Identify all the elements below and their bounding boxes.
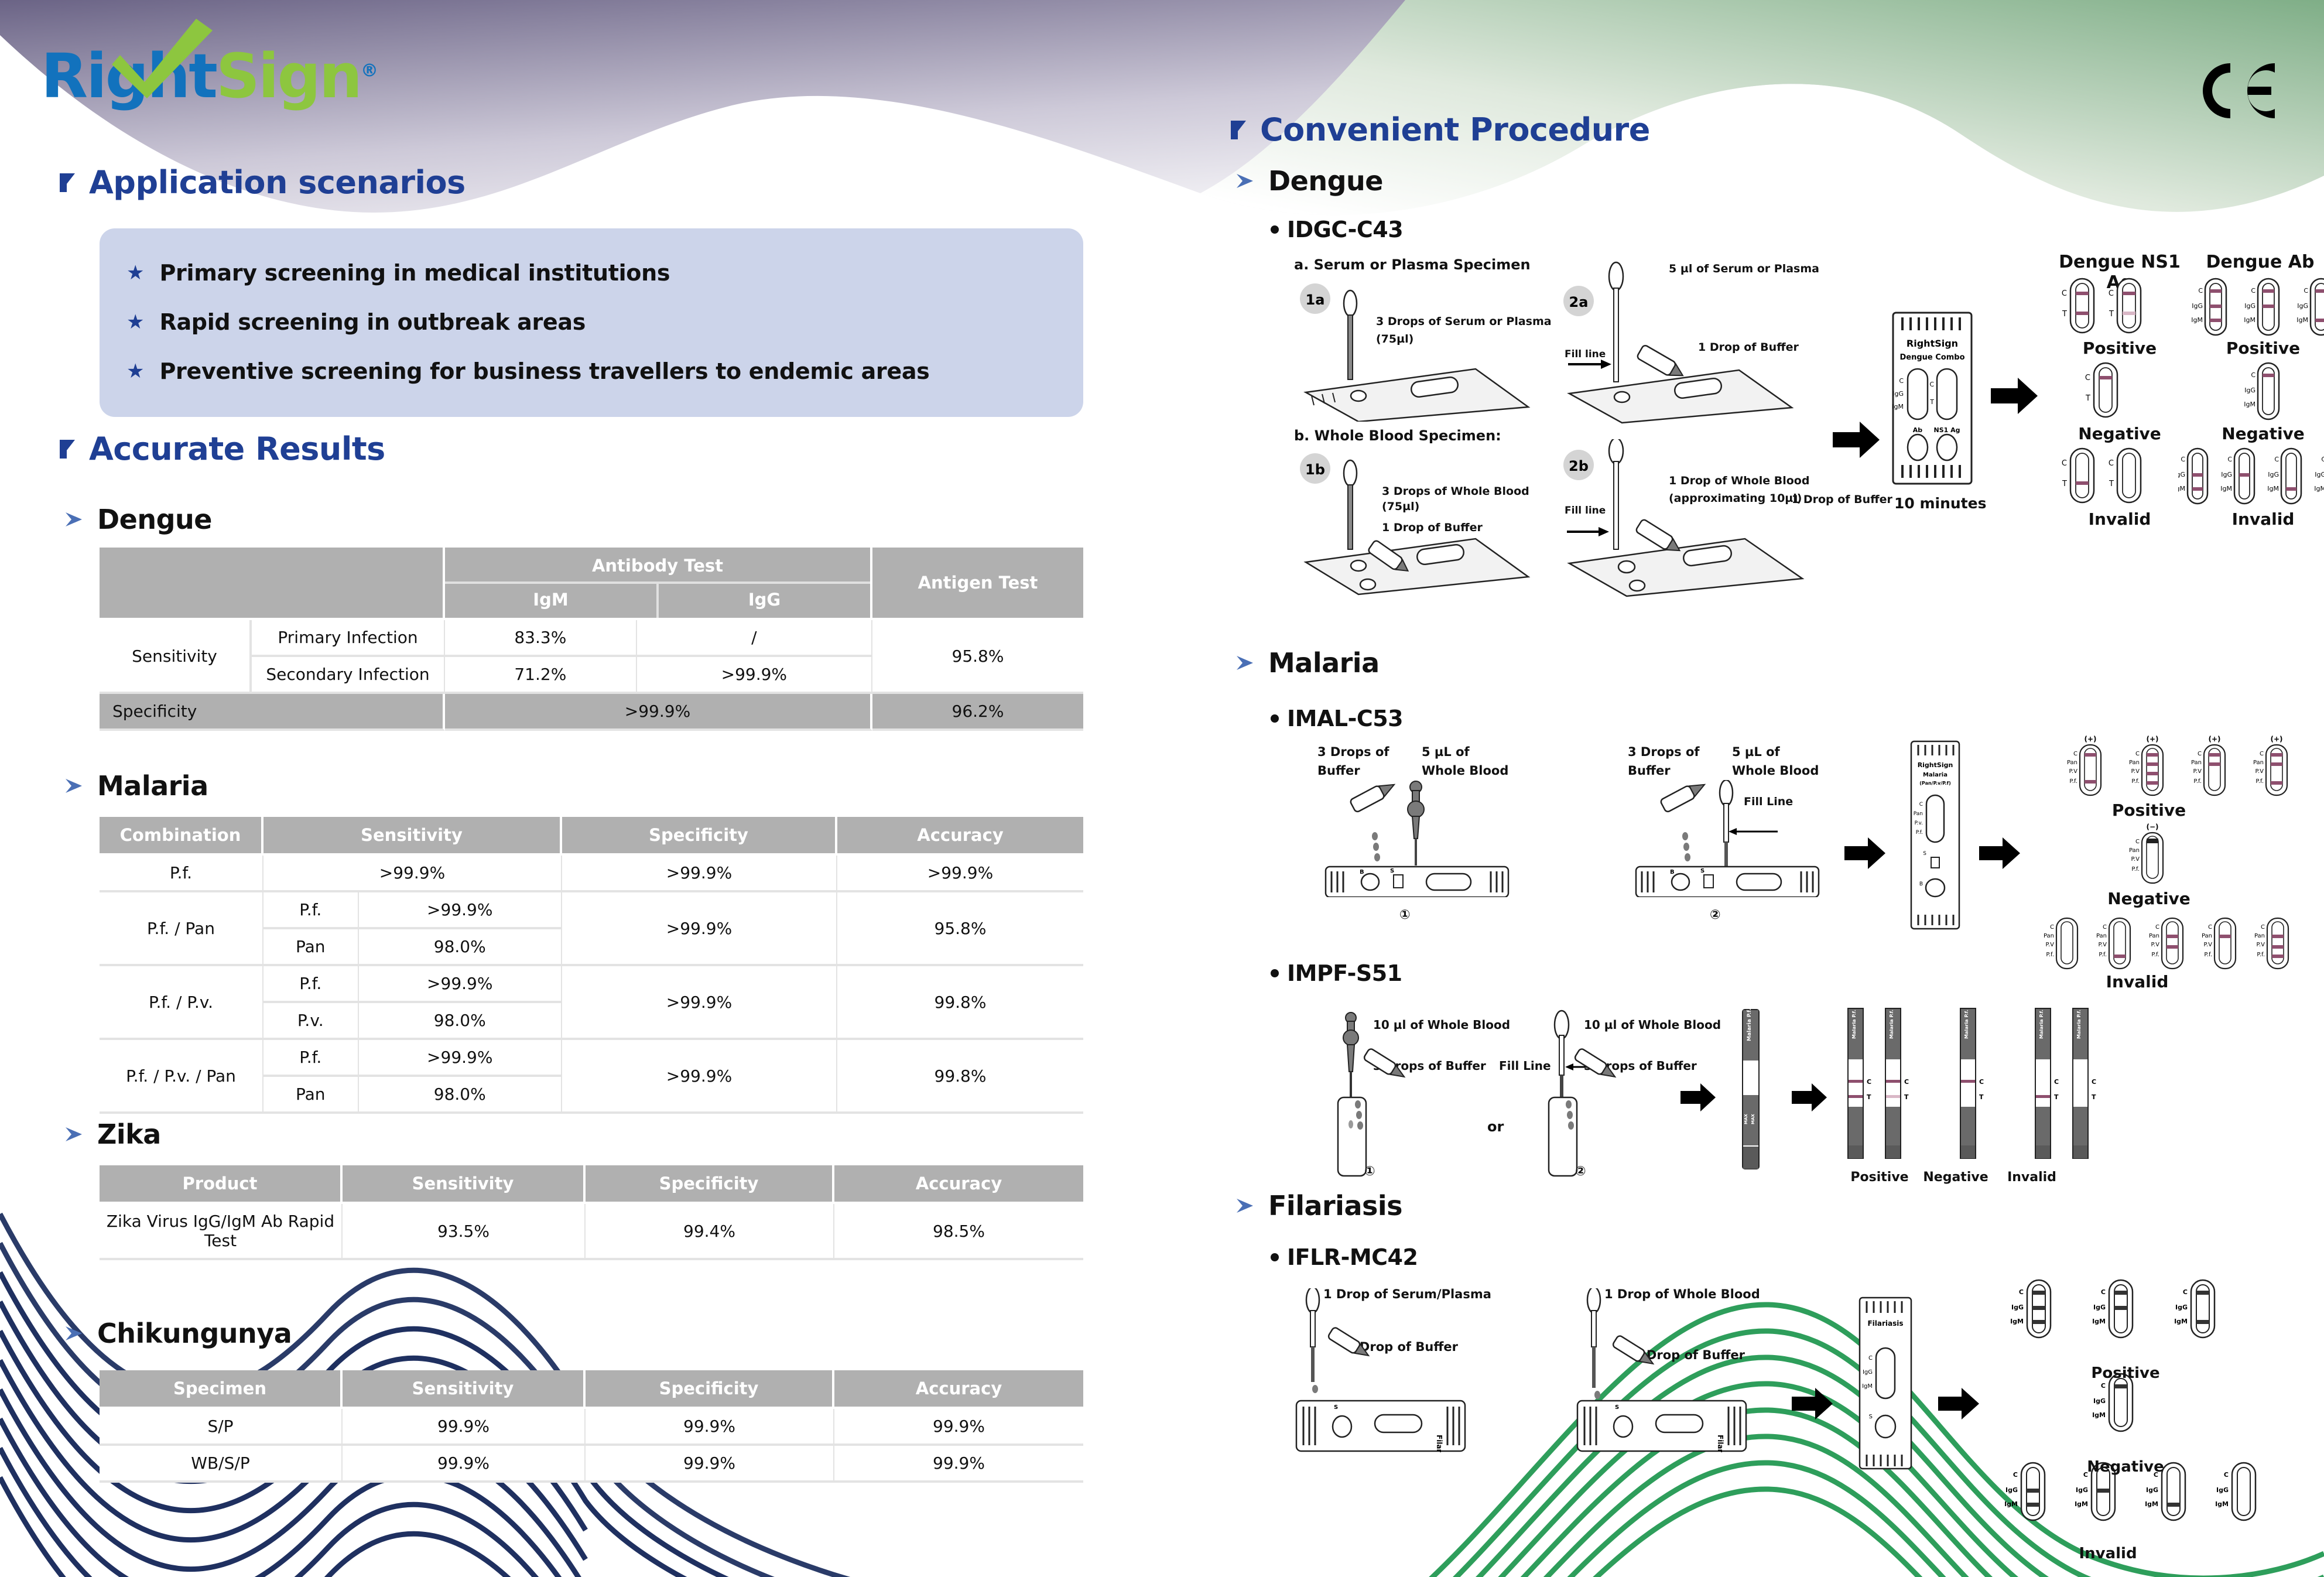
svg-text:Pan: Pan xyxy=(2067,760,2077,766)
svg-text:C: C xyxy=(2183,1288,2188,1296)
subsection-title: Dengue xyxy=(1268,165,1383,197)
secondary-infection-label: Secondary Infection xyxy=(252,657,445,694)
svg-text:IgM: IgM xyxy=(2092,1411,2106,1419)
whole-blood-specimen-label: b. Whole Blood Specimen: xyxy=(1294,427,1501,444)
primary-igm-value: 83.3% xyxy=(445,620,637,657)
specificity-column-header: Specificity xyxy=(586,1370,834,1409)
sub-analyte-value: >99.9% xyxy=(359,892,561,927)
svg-text:Filariasis: Filariasis xyxy=(1867,1319,1903,1328)
svg-text:T: T xyxy=(2109,480,2114,488)
section-heading-accurate-results: Accurate Results xyxy=(59,430,385,467)
serum-specimen-label: a. Serum or Plasma Specimen xyxy=(1294,256,1531,273)
svg-text:IgG: IgG xyxy=(2093,1397,2106,1405)
sensitivity-group-label: Sensitivity xyxy=(100,620,252,694)
dengue-corner-cell xyxy=(100,548,445,620)
accuracy-value: 98.5% xyxy=(834,1204,1083,1260)
sensitivity-value: 93.5% xyxy=(343,1204,586,1260)
svg-text:IgM: IgM xyxy=(2296,316,2308,324)
svg-text:P.V: P.V xyxy=(2151,942,2160,948)
svg-text:(−): (−) xyxy=(2146,823,2158,831)
scenario-label: Rapid screening in outbreak areas xyxy=(159,309,586,335)
flag-bullet-icon xyxy=(1230,119,1247,141)
svg-text:IgG: IgG xyxy=(1863,1369,1873,1376)
svg-text:C: C xyxy=(2109,459,2114,468)
svg-text:(+): (+) xyxy=(2084,735,2096,743)
svg-text:B: B xyxy=(1919,881,1923,887)
svg-text:C: C xyxy=(2135,839,2140,845)
svg-text:Malaria P.f. RightSign: Malaria P.f. RightSign xyxy=(1889,1006,1894,1039)
dengue-ab-negative-label: Negative xyxy=(2196,424,2324,443)
svg-text:P.f.: P.f. xyxy=(1916,830,1923,836)
step-1b-text-line1: 3 Drops of Whole Blood xyxy=(1382,485,1529,498)
chevron-right-icon xyxy=(64,1126,84,1143)
ns1ag-negative-label: Negative xyxy=(2044,424,2196,443)
filariasis-step2-illustration: S Filariasis xyxy=(1569,1288,1768,1452)
impf-strip-in-tube: Malaria P.f. RightSign MAX MAX xyxy=(1727,1007,1774,1177)
sub-analyte-name: Pan xyxy=(263,929,359,964)
svg-text:Pan: Pan xyxy=(1914,811,1923,817)
svg-text:T: T xyxy=(2054,1093,2059,1101)
left-column: Application scenarios ★ Primary screenin… xyxy=(0,0,1171,1577)
sensitivity-column-header: Sensitivity xyxy=(343,1370,586,1409)
svg-text:IgM: IgM xyxy=(1862,1383,1873,1390)
product-code-label: IDGC-C43 xyxy=(1287,217,1403,242)
svg-text:C: C xyxy=(1867,1078,1871,1086)
svg-text:T: T xyxy=(1929,398,1934,406)
table-header-row: Combination Sensitivity Specificity Accu… xyxy=(100,817,1083,856)
impf-step1-illustration xyxy=(1320,1010,1449,1179)
svg-text:IgG: IgG xyxy=(2221,471,2232,478)
svg-text:1a: 1a xyxy=(1306,292,1325,308)
imal-step1-blood-label2: Whole Blood xyxy=(1422,764,1508,778)
svg-text:T: T xyxy=(2092,1093,2096,1101)
section-title: Application scenarios xyxy=(89,164,466,201)
svg-text:P.V: P.V xyxy=(2131,768,2140,775)
star-bullet-icon: ★ xyxy=(126,312,144,332)
svg-text:S: S xyxy=(1615,1404,1619,1411)
impf-invalid-label: Invalid xyxy=(1991,1170,2073,1185)
chevron-right-icon xyxy=(64,1325,84,1342)
svg-text:IgM: IgM xyxy=(2267,485,2279,492)
filariasis-invalid-label: Invalid xyxy=(2049,1545,2166,1562)
svg-text:C: C xyxy=(2274,456,2279,463)
svg-text:P.V: P.V xyxy=(2099,942,2107,948)
svg-text:P.V: P.V xyxy=(2255,768,2264,775)
malaria-invalid-label: Invalid xyxy=(2073,972,2202,991)
imal-step1-buffer-label: 3 Drops of xyxy=(1317,745,1389,759)
svg-text:C: C xyxy=(2260,751,2264,757)
section-heading-application-scenarios: Application scenarios xyxy=(59,164,466,201)
sensitivity-value: 99.9% xyxy=(343,1446,586,1483)
accuracy-column-header: Accuracy xyxy=(834,1370,1083,1409)
svg-text:T: T xyxy=(1979,1093,1984,1101)
chevron-right-icon xyxy=(64,511,84,528)
svg-text:IgG: IgG xyxy=(2178,471,2185,478)
impf-step2-number: ② xyxy=(1575,1164,1586,1179)
step-2b-fill-line-label: Fill line xyxy=(1565,505,1606,516)
svg-text:IgM: IgM xyxy=(2244,316,2255,324)
imal-step1-number: ① xyxy=(1399,908,1411,922)
svg-text:C: C xyxy=(2261,924,2265,931)
star-bullet-icon: ★ xyxy=(126,263,144,283)
table-row: P.f. / P.v. P.f.>99.9% P.v.98.0% >99.9% … xyxy=(100,966,1083,1040)
dengue-procedure-diagram: a. Serum or Plasma Specimen b. Whole Blo… xyxy=(1206,252,2324,615)
svg-text:Pan: Pan xyxy=(2253,760,2264,766)
malaria-positive-label: Positive xyxy=(2085,801,2213,820)
imal-step1-buffer-label2: Buffer xyxy=(1317,764,1360,778)
svg-text:IgG: IgG xyxy=(2192,302,2203,310)
section-title: Accurate Results xyxy=(89,430,385,467)
svg-text:C: C xyxy=(2208,924,2212,931)
arrow-right-icon xyxy=(1979,837,2020,869)
svg-text:T: T xyxy=(2062,310,2067,319)
product-code-label: IMPF-S51 xyxy=(1287,960,1402,986)
sub-analyte-name: P.f. xyxy=(263,966,359,1001)
svg-text:Malaria: Malaria xyxy=(1923,772,1947,778)
scenario-label: Preventive screening for business travel… xyxy=(159,358,929,384)
specificity-value: >99.9% xyxy=(562,1040,837,1114)
svg-text:(Pan/P.v/P.f): (Pan/P.v/P.f) xyxy=(1919,781,1950,786)
subsection-heading-dengue: Dengue xyxy=(64,504,212,535)
product-code-label: IFLR-MC42 xyxy=(1287,1244,1418,1270)
bullet-dot-icon xyxy=(1271,225,1279,234)
specificity-value: >99.9% xyxy=(562,966,837,1040)
svg-text:IgM: IgM xyxy=(2215,1500,2229,1508)
list-item: ★ Primary screening in medical instituti… xyxy=(126,248,1060,297)
specificity-column-header: Specificity xyxy=(586,1165,834,1204)
list-item: ★ Preventive screening for business trav… xyxy=(126,347,1060,396)
table-row-specificity: Specificity >99.9% 96.2% xyxy=(100,694,1083,731)
svg-text:Pan: Pan xyxy=(2191,760,2202,766)
svg-text:IgM: IgM xyxy=(2191,316,2203,324)
secondary-igg-value: >99.9% xyxy=(637,657,872,694)
svg-text:C: C xyxy=(1868,1355,1873,1362)
arrow-right-icon xyxy=(1833,422,1880,458)
sensitivity-column-header: Sensitivity xyxy=(343,1165,586,1204)
svg-text:C: C xyxy=(2321,456,2324,463)
svg-text:IgM: IgM xyxy=(2314,485,2324,492)
dengue-ab-result-strips: CIgGIgM CIgGIgM CIgGIgM CIgGIgM CIgGIgM xyxy=(2178,275,2324,545)
svg-text:(+): (+) xyxy=(2208,735,2220,743)
step-2a-fill-line-label: Fill line xyxy=(1565,348,1606,360)
imal-step2-blood-label2: Whole Blood xyxy=(1732,764,1819,778)
ns1ag-invalid-label: Invalid xyxy=(2044,509,2196,529)
product-code-iflr: IFLR-MC42 xyxy=(1271,1244,1418,1270)
svg-text:IgG: IgG xyxy=(2175,1304,2188,1311)
impf-negative-label: Negative xyxy=(1915,1170,1997,1185)
scenario-label: Primary screening in medical institution… xyxy=(159,260,670,286)
specimen-column-header: Specimen xyxy=(100,1370,343,1409)
table-row: P.f. / Pan P.f.>99.9% Pan98.0% >99.9% 95… xyxy=(100,892,1083,966)
svg-text:C: C xyxy=(2198,751,2202,757)
svg-text:P.V: P.V xyxy=(2131,856,2140,863)
dengue-ab-positive-label: Positive xyxy=(2196,338,2324,358)
accuracy-value: 99.9% xyxy=(834,1446,1083,1483)
sensitivity-value: >99.9% xyxy=(263,856,562,892)
combination-value: P.f. / P.v. xyxy=(100,966,263,1040)
chevron-right-icon xyxy=(64,777,84,795)
chikungunya-results-table: Specimen Sensitivity Specificity Accurac… xyxy=(100,1370,1083,1483)
svg-text:Filariasis: Filariasis xyxy=(1716,1435,1724,1452)
impf-or-label: or xyxy=(1487,1118,1504,1135)
rightsign-logo: RightSign® xyxy=(41,46,377,107)
ce-mark-icon xyxy=(2194,59,2282,123)
specificity-antigen-value: 96.2% xyxy=(872,694,1083,731)
specificity-value: >99.9% xyxy=(562,892,837,966)
svg-text:RightSign: RightSign xyxy=(1907,338,1958,349)
bullet-dot-icon xyxy=(1271,1253,1279,1261)
svg-text:Pan: Pan xyxy=(2096,933,2107,939)
svg-text:IgG: IgG xyxy=(2268,471,2279,478)
sub-analyte-value: 98.0% xyxy=(359,1077,561,1111)
accuracy-value: 99.8% xyxy=(837,1040,1083,1114)
svg-text:IgG: IgG xyxy=(2244,386,2255,394)
svg-text:2b: 2b xyxy=(1569,458,1589,474)
arrow-right-icon xyxy=(1792,1083,1827,1111)
step-1a-text-line2: (75µl) xyxy=(1376,333,1413,345)
svg-text:B: B xyxy=(1360,869,1364,875)
section-title: Convenient Procedure xyxy=(1260,111,1650,148)
svg-text:Pan: Pan xyxy=(2202,933,2212,939)
svg-text:P.f.: P.f. xyxy=(2151,952,2159,958)
filariasis-result-strips: CIgGIgM CIgGIgM CIgGIgM CIgGIgM CIgGIgM xyxy=(1991,1259,2284,1534)
sensitivity-split-cell: P.f.>99.9% Pan98.0% xyxy=(263,1040,562,1114)
svg-text:IgG: IgG xyxy=(1892,390,1904,398)
list-item: ★ Rapid screening in outbreak areas xyxy=(126,297,1060,347)
dengue-read-time-label: 10 minutes xyxy=(1894,495,1987,512)
table-row: WB/S/P 99.9% 99.9% 99.9% xyxy=(100,1446,1083,1483)
combination-value: P.f. / Pan xyxy=(100,892,263,966)
subsection-title: Malaria xyxy=(97,770,208,802)
sub-analyte-value: >99.9% xyxy=(359,966,561,1001)
svg-text:Pan: Pan xyxy=(2129,847,2140,854)
accuracy-value: 99.9% xyxy=(834,1409,1083,1446)
svg-text:S: S xyxy=(1700,868,1705,874)
svg-text:Malaria P.f. RightSign: Malaria P.f. RightSign xyxy=(1851,1006,1857,1039)
svg-text:C: C xyxy=(2251,287,2255,295)
chevron-right-icon xyxy=(1235,654,1255,672)
sub-analyte-value: 98.0% xyxy=(359,929,561,964)
svg-text:Malaria P.f. RightSign: Malaria P.f. RightSign xyxy=(1747,1007,1753,1041)
sensitivity-value: 99.9% xyxy=(343,1409,586,1446)
imal-step2-blood-label: 5 µL of xyxy=(1732,745,1780,759)
antigen-sensitivity-value: 95.8% xyxy=(872,620,1083,694)
product-code-imal: IMAL-C53 xyxy=(1271,706,1403,731)
bullet-dot-icon xyxy=(1271,714,1279,723)
svg-text:C: C xyxy=(1899,377,1904,385)
svg-text:P.f.: P.f. xyxy=(2069,778,2077,785)
svg-text:IgM: IgM xyxy=(1892,403,1904,411)
product-code-label: IMAL-C53 xyxy=(1287,706,1403,731)
registered-trademark-icon: ® xyxy=(361,60,377,81)
svg-text:IgG: IgG xyxy=(2076,1486,2088,1494)
svg-text:IgM: IgM xyxy=(2010,1318,2024,1325)
subsection-title: Zika xyxy=(97,1118,161,1150)
zika-results-table: Product Sensitivity Specificity Accuracy… xyxy=(100,1165,1083,1260)
svg-text:IgG: IgG xyxy=(2297,302,2308,310)
svg-text:C: C xyxy=(2019,1288,2024,1296)
svg-text:P.V: P.V xyxy=(2193,768,2202,775)
sensitivity-split-cell: P.f.>99.9% P.v.98.0% xyxy=(263,966,562,1040)
accuracy-column-header: Accuracy xyxy=(837,817,1083,856)
imal-step2-illustration: B S xyxy=(1622,780,1833,897)
svg-text:C: C xyxy=(2054,1078,2059,1086)
chevron-right-icon xyxy=(1235,1197,1255,1215)
svg-text:T: T xyxy=(1904,1093,1909,1101)
dengue-results-table: Antibody Test IgM IgG Antigen Test Sensi… xyxy=(100,548,1083,731)
step-2a-text-line1: 5 µl of Serum or Plasma xyxy=(1669,262,1819,275)
svg-text:S: S xyxy=(1390,868,1394,874)
product-code-dengue: IDGC-C43 xyxy=(1271,217,1403,242)
svg-text:Pan: Pan xyxy=(2044,933,2054,939)
table-row: Zika Virus IgG/IgM Ab Rapid Test 93.5% 9… xyxy=(100,1204,1083,1260)
svg-text:IgG: IgG xyxy=(2216,1486,2229,1494)
svg-text:P.f.: P.f. xyxy=(2099,952,2107,958)
chevron-right-icon xyxy=(1235,172,1255,190)
accuracy-value: 99.8% xyxy=(837,966,1083,1040)
specimen-value: WB/S/P xyxy=(100,1446,343,1483)
specimen-value: S/P xyxy=(100,1409,343,1446)
step-2b-text-line3: 1 Drop of Buffer xyxy=(1792,493,1892,506)
star-bullet-icon: ★ xyxy=(126,361,144,381)
table-header-row: Specimen Sensitivity Specificity Accurac… xyxy=(100,1370,1083,1409)
subsection-title: Filariasis xyxy=(1268,1190,1402,1222)
filariasis-negative-label: Negative xyxy=(2067,1458,2184,1476)
malaria-result-strips: (+) CPanP.VP.f. (+) CPanP.VP.f. (+) CPan… xyxy=(2026,714,2307,1007)
svg-text:IgM: IgM xyxy=(2220,485,2232,492)
sub-analyte-value: >99.9% xyxy=(359,1040,561,1075)
step-1b-text-line2: (75µl) xyxy=(1382,500,1419,513)
imal-step1-illustration: B S xyxy=(1312,780,1522,897)
svg-text:IgM: IgM xyxy=(2174,1318,2188,1325)
svg-text:T: T xyxy=(1867,1093,1871,1101)
primary-igg-value: / xyxy=(637,620,872,657)
svg-text:P.v.: P.v. xyxy=(1915,820,1923,826)
svg-text:P.f.: P.f. xyxy=(2204,952,2212,958)
subsection-heading-malaria-procedure: Malaria xyxy=(1235,647,1380,679)
specificity-column-header: Specificity xyxy=(562,817,837,856)
arrow-right-icon xyxy=(1991,378,2038,414)
svg-text:(+): (+) xyxy=(2270,735,2282,743)
svg-text:C: C xyxy=(1919,802,1923,808)
svg-text:Malaria P.f. RightSign: Malaria P.f. RightSign xyxy=(2039,1006,2044,1039)
svg-text:(+): (+) xyxy=(2146,735,2158,743)
svg-text:C: C xyxy=(2109,289,2114,298)
svg-text:C: C xyxy=(2251,371,2255,379)
impf-result-strips: Malaria P.f. RightSign CT Malaria P.f. R… xyxy=(1833,1006,2207,1182)
svg-text:IgM: IgM xyxy=(2178,485,2185,492)
igg-column-header: IgG xyxy=(659,584,870,618)
svg-text:T: T xyxy=(2109,310,2114,319)
ns1ag-positive-label: Positive xyxy=(2044,338,2196,358)
specificity-value: 99.9% xyxy=(586,1446,834,1483)
svg-text:Malaria P.f. RightSign: Malaria P.f. RightSign xyxy=(1964,1006,1969,1039)
step-2b-text-line1: 1 Drop of Whole Blood xyxy=(1669,474,1809,487)
antibody-test-header: Antibody Test IgM IgG xyxy=(445,548,872,620)
svg-text:P.f.: P.f. xyxy=(2046,952,2054,958)
svg-text:C: C xyxy=(2224,1471,2229,1479)
svg-text:P.f.: P.f. xyxy=(2131,866,2140,873)
step-2b-illustration: 2b xyxy=(1558,439,1815,609)
svg-text:IgG: IgG xyxy=(2005,1486,2018,1494)
filariasis-cassette: Filariasis C IgG IgM S xyxy=(1850,1294,1921,1476)
sub-analyte-name: P.f. xyxy=(263,892,359,927)
svg-text:IgG: IgG xyxy=(2315,471,2324,478)
accuracy-column-header: Accuracy xyxy=(834,1165,1083,1204)
malaria-cassette: RightSign Malaria (Pan/P.v/P.f) C Pan P.… xyxy=(1903,738,1967,937)
accuracy-value: >99.9% xyxy=(837,856,1083,892)
svg-text:C: C xyxy=(1979,1078,1984,1086)
subsection-heading-filariasis: Filariasis xyxy=(1235,1190,1402,1222)
subsection-heading-zika: Zika xyxy=(64,1118,161,1150)
svg-text:P.f.: P.f. xyxy=(2131,778,2140,785)
primary-infection-label: Primary Infection xyxy=(252,620,445,657)
application-scenarios-box: ★ Primary screening in medical instituti… xyxy=(100,228,1083,417)
arrow-right-icon xyxy=(1792,1388,1833,1419)
svg-text:IgM: IgM xyxy=(2244,401,2255,408)
impf-step1-number: ① xyxy=(1364,1164,1375,1179)
table-header-row: Antibody Test IgM IgG Antigen Test xyxy=(100,548,1083,620)
arrow-right-icon xyxy=(1938,1388,1979,1419)
svg-text:MAX: MAX xyxy=(1744,1114,1748,1124)
subsection-heading-malaria: Malaria xyxy=(64,770,208,802)
svg-text:Filariasis: Filariasis xyxy=(1435,1435,1443,1452)
product-code-impf: IMPF-S51 xyxy=(1271,960,1402,986)
svg-text:S: S xyxy=(1869,1414,1873,1420)
svg-text:P.V: P.V xyxy=(2069,768,2078,775)
section-heading-convenient-procedure: Convenient Procedure xyxy=(1230,111,1650,148)
specificity-value: 99.9% xyxy=(586,1409,834,1446)
svg-text:S: S xyxy=(1923,851,1926,857)
arrow-right-icon xyxy=(1844,837,1885,869)
table-row: P.f. / P.v. / Pan P.f.>99.9% Pan98.0% >9… xyxy=(100,1040,1083,1114)
malaria-results-table: Combination Sensitivity Specificity Accu… xyxy=(100,817,1083,1114)
combination-value: P.f. xyxy=(100,856,263,892)
dengue-combo-cassette: RightSign Dengue Combo C IgG IgM C T Ab … xyxy=(1888,310,1976,486)
impf-step2-illustration xyxy=(1531,1010,1660,1179)
filariasis-positive-label: Positive xyxy=(2067,1364,2184,1382)
svg-text:2a: 2a xyxy=(1569,294,1589,310)
svg-text:T: T xyxy=(2085,394,2090,403)
svg-text:IgG: IgG xyxy=(2093,1304,2106,1311)
subsection-title: Dengue xyxy=(97,504,212,535)
svg-text:P.V: P.V xyxy=(2046,942,2055,948)
impf-s51-diagram: 10 µl of Whole Blood 3 Drops of Buffer ①… xyxy=(1206,996,2324,1195)
subsection-heading-chikungunya: Chikungunya xyxy=(64,1318,292,1349)
dengue-ab-panel-title: Dengue Ab xyxy=(2196,252,2324,272)
svg-text:C: C xyxy=(1904,1078,1909,1086)
arrow-right-icon xyxy=(1680,1083,1716,1111)
sub-analyte-name: P.v. xyxy=(263,1003,359,1038)
product-name: Zika Virus IgG/IgM Ab Rapid Test xyxy=(100,1204,343,1260)
svg-text:C: C xyxy=(2050,924,2054,931)
svg-text:P.f.: P.f. xyxy=(2255,778,2264,785)
imal-step1-blood-label: 5 µL of xyxy=(1422,745,1470,759)
svg-text:C: C xyxy=(1929,381,1934,388)
svg-text:P.f.: P.f. xyxy=(2193,778,2202,785)
combination-value: P.f. / P.v. / Pan xyxy=(100,1040,263,1114)
product-column-header: Product xyxy=(100,1165,343,1204)
flag-bullet-icon xyxy=(59,439,76,460)
sub-analyte-name: Pan xyxy=(263,1077,359,1111)
svg-text:C: C xyxy=(2062,459,2067,468)
step-1b-text-line3: 1 Drop of Buffer xyxy=(1382,521,1483,534)
imal-step2-number: ② xyxy=(1710,908,1721,922)
svg-text:P.f.: P.f. xyxy=(2257,952,2265,958)
specificity-antibody-value: >99.9% xyxy=(445,694,872,731)
svg-text:RightSign: RightSign xyxy=(1918,761,1953,769)
sensitivity-column-header: Sensitivity xyxy=(263,817,562,856)
